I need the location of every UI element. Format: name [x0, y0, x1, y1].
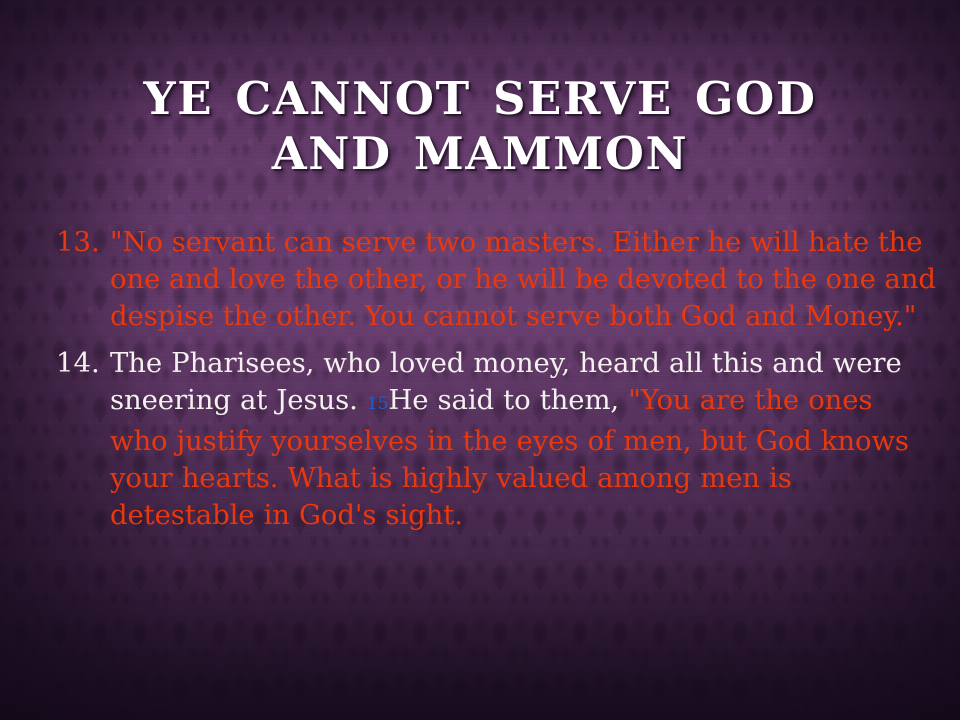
list-item: 13. "No servant can serve two masters. E… — [56, 224, 936, 335]
slide-title-block: YE CANNOT SERVE GOD AND MAMMON — [80, 72, 880, 182]
presentation-slide: YE CANNOT SERVE GOD AND MAMMON 13. "No s… — [0, 0, 960, 720]
list-item-text: The Pharisees, who loved money, heard al… — [110, 345, 936, 534]
list-item-text: "No servant can serve two masters. Eithe… — [110, 224, 936, 335]
verse-number-15: 15 — [367, 394, 388, 414]
slide-body-list: 13. "No servant can serve two masters. E… — [56, 224, 936, 544]
list-item-number: 13. — [56, 224, 110, 261]
slide-title: YE CANNOT SERVE GOD AND MAMMON — [80, 72, 880, 182]
list-item-number: 14. — [56, 345, 110, 382]
slide-content: YE CANNOT SERVE GOD AND MAMMON 13. "No s… — [0, 0, 960, 720]
verse-text-white-tail: He said to them, — [388, 384, 628, 416]
list-item: 14. The Pharisees, who loved money, hear… — [56, 345, 936, 534]
